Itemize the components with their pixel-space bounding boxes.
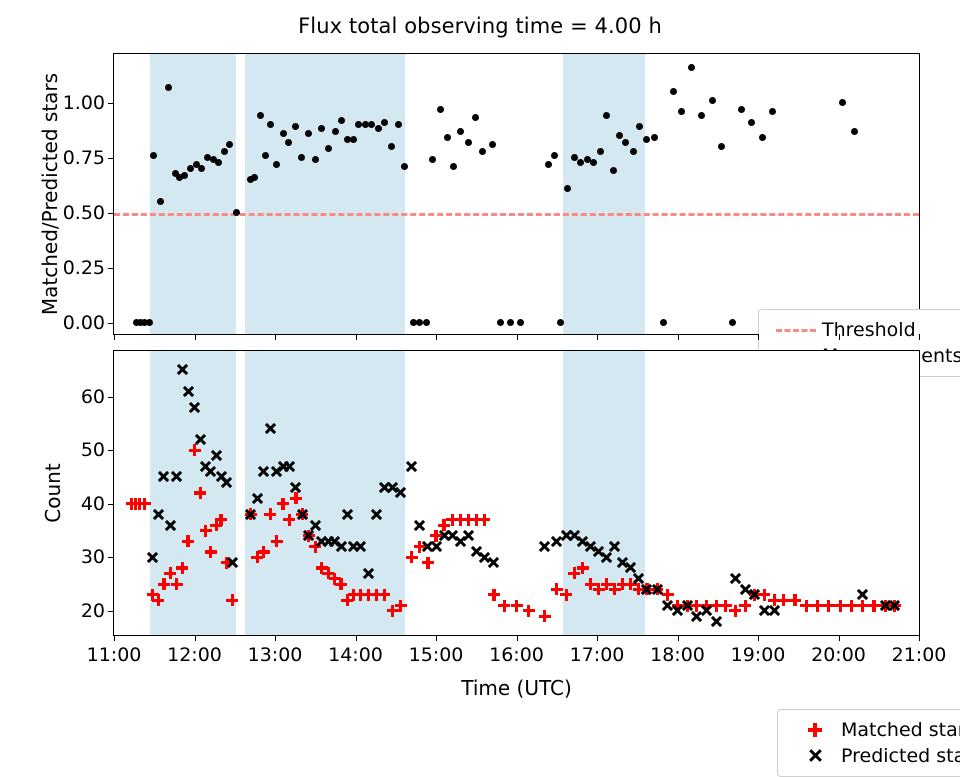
data-point-matched-stars [221, 520, 222, 521]
x-axis-tick [597, 635, 598, 641]
data-point-predicted-stars [347, 514, 348, 515]
x-axis-tick [114, 635, 115, 641]
data-point-predicted-stars [315, 525, 316, 526]
shaded-time-band-3 [563, 351, 645, 635]
data-point-matched-stars [384, 595, 385, 596]
data-point-predicted-stars [657, 589, 658, 590]
plus-marker-icon [789, 719, 841, 741]
data-point-measurements [670, 88, 677, 95]
data-point-matched-stars [631, 584, 632, 585]
x-axis-tick [517, 635, 518, 641]
bottom-plot-area [114, 351, 919, 635]
data-point-measurements [338, 117, 345, 124]
data-point-predicted-stars [257, 498, 258, 499]
legend-item-predicted-stars: Predicted stars [789, 743, 960, 769]
data-point-matched-stars [257, 557, 258, 558]
x-axis-tick [436, 334, 437, 340]
data-point-matched-stars [341, 584, 342, 585]
data-point-predicted-stars [188, 391, 189, 392]
data-point-predicted-stars [607, 557, 608, 558]
data-point-matched-stars [264, 552, 265, 553]
legend-label-matched-stars: Matched stars [841, 719, 960, 741]
data-point-matched-stars [476, 520, 477, 521]
data-point-measurements [769, 108, 776, 115]
data-point-measurements [429, 156, 436, 163]
data-point-predicted-stars [444, 536, 445, 537]
data-point-measurements [688, 64, 695, 71]
data-point-predicted-stars [164, 477, 165, 478]
shaded-time-band-2 [245, 54, 405, 334]
data-point-predicted-stars [216, 455, 217, 456]
data-point-predicted-stars [428, 547, 429, 548]
data-point-matched-stars [195, 450, 196, 451]
x-axis-tick-label: 16:00 [489, 644, 544, 666]
top-plot-area [114, 54, 919, 334]
y-axis-tick [108, 323, 114, 324]
data-point-predicted-stars [566, 536, 567, 537]
data-point-measurements [325, 145, 332, 152]
data-point-measurements [401, 163, 408, 170]
data-point-matched-stars [188, 541, 189, 542]
data-point-predicted-stars [468, 536, 469, 537]
data-point-predicted-stars [615, 547, 616, 548]
x-axis-tick [678, 334, 679, 340]
data-point-measurements [375, 125, 382, 132]
data-point-matched-stars [697, 606, 698, 607]
data-point-matched-stars [806, 606, 807, 607]
data-point-measurements [698, 112, 705, 119]
data-point-measurements [497, 319, 504, 326]
data-point-matched-stars [517, 606, 518, 607]
data-point-predicted-stars [745, 589, 746, 590]
bottom-legend: Matched stars Predicted stars [777, 709, 960, 777]
data-point-matched-stars [393, 611, 394, 612]
data-point-predicted-stars [412, 466, 413, 467]
data-point-measurements [709, 97, 716, 104]
data-point-measurements [590, 159, 597, 166]
x-axis-tick-label: 19:00 [731, 644, 786, 666]
data-point-measurements [395, 121, 402, 128]
data-point-predicted-stars [158, 514, 159, 515]
data-point-predicted-stars [764, 611, 765, 612]
data-point-predicted-stars [376, 514, 377, 515]
data-point-predicted-stars [296, 488, 297, 489]
data-point-measurements [651, 134, 658, 141]
data-point-measurements [660, 319, 667, 326]
legend-label-threshold: Threshold [822, 319, 916, 341]
data-point-predicted-stars [270, 429, 271, 430]
data-point-measurements [564, 185, 571, 192]
data-point-predicted-stars [476, 552, 477, 553]
data-point-matched-stars [277, 541, 278, 542]
data-point-predicted-stars [200, 439, 201, 440]
x-axis-tick-label: 14:00 [328, 644, 383, 666]
data-point-measurements [472, 114, 479, 121]
data-point-matched-stars [566, 595, 567, 596]
data-point-measurements [450, 163, 457, 170]
x-axis-tick-label: 15:00 [409, 644, 464, 666]
data-point-predicted-stars [289, 466, 290, 467]
cross-marker-icon [789, 745, 841, 767]
data-point-matched-stars [583, 568, 584, 569]
x-axis-tick [919, 635, 920, 641]
data-point-predicted-stars [647, 589, 648, 590]
x-axis-tick [839, 635, 840, 641]
data-point-matched-stars [283, 504, 284, 505]
data-point-predicted-stars [322, 541, 323, 542]
y-axis-tick [108, 213, 114, 214]
data-point-measurements [759, 134, 766, 141]
y-axis-tick [108, 397, 114, 398]
y-axis-tick [108, 557, 114, 558]
top-panel-axes: Matched/Predicted stars Threshold Measur… [113, 53, 920, 335]
data-point-measurements [551, 152, 558, 159]
data-point-matched-stars [735, 611, 736, 612]
data-point-matched-stars [401, 606, 402, 607]
y-axis-tick-label: 30 [81, 546, 105, 568]
data-point-matched-stars [270, 514, 271, 515]
data-point-measurements [643, 136, 650, 143]
figure-title: Flux total observing time = 4.00 h [0, 14, 960, 38]
data-point-measurements [839, 99, 846, 106]
data-point-matched-stars [764, 595, 765, 596]
data-point-matched-stars [315, 547, 316, 548]
data-point-predicted-stars [574, 536, 575, 537]
data-point-measurements [630, 148, 637, 155]
data-point-measurements [150, 152, 157, 159]
x-axis-tick [919, 334, 920, 340]
data-point-predicted-stars [863, 595, 864, 596]
threshold-dashed-line-icon [770, 319, 822, 341]
x-axis-tick-label: 12:00 [167, 644, 222, 666]
data-point-predicted-stars [557, 541, 558, 542]
shaded-time-band-1 [150, 54, 236, 334]
x-axis-tick [436, 635, 437, 641]
data-point-predicted-stars [452, 536, 453, 537]
data-point-predicted-stars [328, 541, 329, 542]
data-point-matched-stars [607, 584, 608, 585]
legend-item-matched-stars: Matched stars [789, 717, 960, 743]
y-axis-tick [108, 158, 114, 159]
data-point-matched-stars [529, 611, 530, 612]
data-point-matched-stars [145, 504, 146, 505]
data-point-matched-stars [200, 493, 201, 494]
y-axis-tick-label: 50 [81, 439, 105, 461]
data-point-matched-stars [428, 563, 429, 564]
data-point-predicted-stars [182, 370, 183, 371]
data-point-matched-stars [153, 595, 154, 596]
data-point-matched-stars [829, 606, 830, 607]
data-point-matched-stars [182, 568, 183, 569]
y-axis-tick [108, 103, 114, 104]
y-axis-tick-label: 20 [81, 600, 105, 622]
x-axis-tick [839, 334, 840, 340]
data-point-measurements [718, 143, 725, 150]
bottom-y-axis-label: Count [41, 423, 65, 563]
data-point-predicted-stars [153, 557, 154, 558]
data-point-matched-stars [170, 573, 171, 574]
data-point-matched-stars [420, 547, 421, 548]
bottom-panel-axes: Count Matched stars Predicted stars 2030… [113, 350, 920, 636]
data-point-matched-stars [818, 606, 819, 607]
data-point-predicted-stars [494, 563, 495, 564]
data-point-matched-stars [574, 573, 575, 574]
data-point-matched-stars [851, 606, 852, 607]
data-point-matched-stars [784, 600, 785, 601]
data-point-measurements [545, 161, 552, 168]
data-point-measurements [678, 108, 685, 115]
y-axis-tick-label: 0.25 [63, 257, 105, 279]
x-axis-tick [275, 334, 276, 340]
data-point-predicted-stars [170, 525, 171, 526]
data-point-predicted-stars [668, 606, 669, 607]
x-axis-tick [195, 334, 196, 340]
data-point-predicted-stars [368, 573, 369, 574]
x-axis-tick [356, 334, 357, 340]
data-point-measurements [729, 319, 736, 326]
data-point-matched-stars [232, 600, 233, 601]
data-point-measurements [165, 84, 172, 91]
data-point-measurements [262, 152, 269, 159]
data-point-predicted-stars [706, 611, 707, 612]
data-point-predicted-stars [211, 472, 212, 473]
x-axis-tick-label: 18:00 [650, 644, 705, 666]
data-point-predicted-stars [436, 547, 437, 548]
data-point-predicted-stars [360, 547, 361, 548]
data-point-matched-stars [468, 520, 469, 521]
data-point-matched-stars [376, 595, 377, 596]
data-point-measurements [597, 148, 604, 155]
data-point-predicted-stars [697, 616, 698, 617]
data-point-matched-stars [615, 589, 616, 590]
data-point-matched-stars [164, 584, 165, 585]
data-point-predicted-stars [583, 541, 584, 542]
data-point-predicted-stars [251, 514, 252, 515]
y-axis-tick-label: 60 [81, 386, 105, 408]
x-axis-tick [758, 635, 759, 641]
data-point-matched-stars [623, 584, 624, 585]
data-point-predicted-stars [393, 488, 394, 489]
data-point-measurements [517, 319, 524, 326]
y-axis-tick-label: 0.75 [63, 147, 105, 169]
data-point-matched-stars [158, 600, 159, 601]
data-point-predicted-stars [687, 606, 688, 607]
data-point-matched-stars [328, 573, 329, 574]
data-point-predicted-stars [341, 547, 342, 548]
x-axis-tick [356, 635, 357, 641]
flux-observing-figure: Flux total observing time = 4.00 h Match… [0, 0, 960, 720]
data-point-matched-stars [444, 525, 445, 526]
data-point-predicted-stars [384, 488, 385, 489]
data-point-matched-stars [296, 498, 297, 499]
data-point-matched-stars [211, 552, 212, 553]
data-point-matched-stars [322, 568, 323, 569]
legend-item-threshold: Threshold [770, 317, 960, 343]
data-point-measurements [465, 139, 472, 146]
x-axis-tick-label: 17:00 [570, 644, 625, 666]
data-point-matched-stars [863, 606, 864, 607]
data-point-matched-stars [460, 520, 461, 521]
x-axis-label: Time (UTC) [113, 676, 920, 700]
data-point-matched-stars [504, 606, 505, 607]
data-point-measurements [292, 123, 299, 130]
data-point-predicted-stars [591, 547, 592, 548]
data-point-matched-stars [347, 600, 348, 601]
x-axis-tick [275, 635, 276, 641]
data-point-measurements [851, 128, 858, 135]
x-axis-tick [678, 635, 679, 641]
data-point-measurements [332, 128, 339, 135]
data-point-matched-stars [545, 616, 546, 617]
x-axis-tick-label: 11:00 [87, 644, 142, 666]
data-point-measurements [507, 319, 514, 326]
data-point-matched-stars [795, 600, 796, 601]
data-point-predicted-stars [277, 472, 278, 473]
data-point-measurements [489, 141, 496, 148]
top-y-axis-label: Matched/Predicted stars [38, 44, 62, 344]
data-point-predicted-stars [678, 611, 679, 612]
data-point-predicted-stars [195, 407, 196, 408]
data-point-predicted-stars [545, 547, 546, 548]
data-point-predicted-stars [599, 552, 600, 553]
data-point-matched-stars [436, 536, 437, 537]
data-point-measurements [280, 130, 287, 137]
data-point-measurements [273, 161, 280, 168]
x-axis-tick [597, 334, 598, 340]
data-point-measurements [610, 167, 617, 174]
data-point-predicted-stars [177, 477, 178, 478]
data-point-predicted-stars [735, 579, 736, 580]
data-point-matched-stars [668, 595, 669, 596]
data-point-matched-stars [360, 595, 361, 596]
data-point-measurements [444, 134, 451, 141]
x-axis-tick [114, 334, 115, 340]
data-point-matched-stars [557, 589, 558, 590]
y-axis-tick-label: 1.00 [63, 92, 105, 114]
y-axis-tick-label: 40 [81, 493, 105, 515]
data-point-predicted-stars [264, 472, 265, 473]
data-point-predicted-stars [401, 493, 402, 494]
data-point-predicted-stars [302, 514, 303, 515]
data-point-matched-stars [216, 525, 217, 526]
data-point-predicted-stars [460, 541, 461, 542]
data-point-matched-stars [599, 589, 600, 590]
data-point-matched-stars [368, 595, 369, 596]
data-point-matched-stars [639, 589, 640, 590]
data-point-matched-stars [452, 520, 453, 521]
data-point-predicted-stars [354, 547, 355, 548]
data-point-measurements [221, 148, 228, 155]
shaded-time-band-3 [563, 54, 645, 334]
data-point-matched-stars [716, 606, 717, 607]
data-point-predicted-stars [639, 579, 640, 580]
x-axis-tick [517, 334, 518, 340]
y-axis-tick [108, 611, 114, 612]
data-point-predicted-stars [232, 563, 233, 564]
x-axis-tick-label: 21:00 [892, 644, 947, 666]
x-axis-tick [195, 635, 196, 641]
data-point-predicted-stars [895, 606, 896, 607]
y-axis-tick [108, 450, 114, 451]
data-point-predicted-stars [309, 536, 310, 537]
data-point-predicted-stars [755, 595, 756, 596]
data-point-measurements [423, 319, 430, 326]
data-point-matched-stars [335, 579, 336, 580]
data-point-matched-stars [726, 606, 727, 607]
data-point-measurements [748, 119, 755, 126]
data-point-predicted-stars [283, 466, 284, 467]
data-point-predicted-stars [227, 482, 228, 483]
data-point-predicted-stars [420, 525, 421, 526]
data-point-matched-stars [774, 600, 775, 601]
data-point-matched-stars [745, 606, 746, 607]
data-point-predicted-stars [716, 622, 717, 623]
data-point-predicted-stars [885, 606, 886, 607]
data-point-matched-stars [206, 531, 207, 532]
data-point-matched-stars [874, 606, 875, 607]
y-axis-tick [108, 268, 114, 269]
data-point-measurements [738, 106, 745, 113]
y-axis-tick [108, 504, 114, 505]
data-point-predicted-stars [631, 568, 632, 569]
x-axis-tick-label: 13:00 [248, 644, 303, 666]
data-point-measurements [457, 128, 464, 135]
x-axis-tick [758, 334, 759, 340]
data-point-matched-stars [412, 557, 413, 558]
data-point-matched-stars [484, 520, 485, 521]
x-axis-tick-label: 20:00 [811, 644, 866, 666]
data-point-measurements [437, 106, 444, 113]
data-point-matched-stars [591, 584, 592, 585]
data-point-matched-stars [494, 595, 495, 596]
data-point-measurements [479, 148, 486, 155]
data-point-matched-stars [289, 520, 290, 521]
legend-label-predicted-stars: Predicted stars [841, 745, 960, 767]
data-point-measurements [285, 139, 292, 146]
y-axis-tick-label: 0.50 [63, 202, 105, 224]
data-point-predicted-stars [774, 611, 775, 612]
data-point-predicted-stars [484, 557, 485, 558]
data-point-matched-stars [840, 606, 841, 607]
y-axis-tick-label: 0.00 [63, 312, 105, 334]
data-point-measurements [381, 119, 388, 126]
data-point-matched-stars [177, 584, 178, 585]
data-point-measurements [215, 159, 222, 166]
